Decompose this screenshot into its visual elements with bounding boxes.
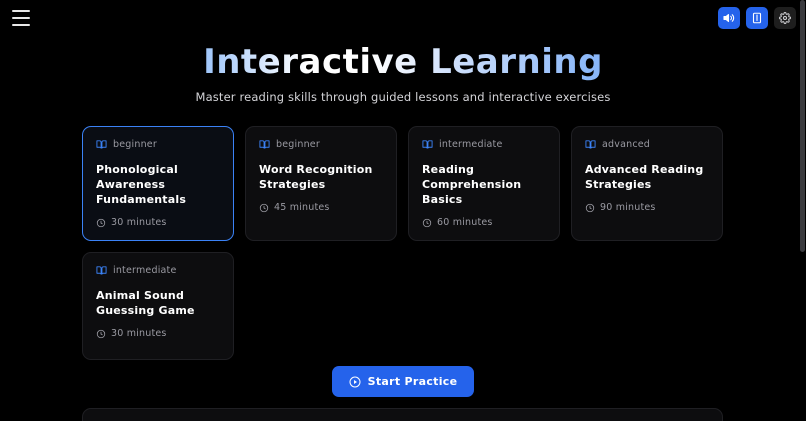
gear-icon (779, 12, 791, 24)
hero-section: Interactive Learning Master reading skil… (0, 40, 806, 104)
lesson-duration: 90 minutes (585, 202, 710, 213)
lesson-title: Phonological Awareness Fundamentals (96, 162, 221, 207)
clock-icon (422, 218, 432, 228)
settings-button[interactable] (774, 7, 796, 29)
lesson-duration-label: 30 minutes (111, 328, 167, 339)
lesson-title: Animal Sound Guessing Game (96, 288, 221, 318)
lesson-level-label: beginner (276, 139, 320, 150)
lesson-level: beginner (96, 139, 221, 150)
play-circle-icon (349, 376, 361, 388)
clock-icon (259, 203, 269, 213)
clock-icon (96, 218, 106, 228)
book-icon (422, 139, 433, 150)
lesson-duration: 30 minutes (96, 328, 221, 339)
page-title: Interactive Learning (0, 40, 806, 84)
lesson-card-grid: beginnerPhonological Awareness Fundament… (82, 126, 723, 360)
lesson-duration-label: 90 minutes (600, 202, 656, 213)
hamburger-bar (12, 17, 30, 19)
lesson-duration: 30 minutes (96, 217, 221, 228)
lesson-level: intermediate (422, 139, 547, 150)
lesson-level-label: beginner (113, 139, 157, 150)
lesson-card[interactable]: beginnerPhonological Awareness Fundament… (82, 126, 234, 241)
start-practice-button[interactable]: Start Practice (332, 366, 475, 397)
lesson-duration-label: 30 minutes (111, 217, 167, 228)
lesson-title: Advanced Reading Strategies (585, 162, 710, 192)
lesson-level: intermediate (96, 265, 221, 276)
lesson-title: Reading Comprehension Basics (422, 162, 547, 207)
lesson-level: beginner (259, 139, 384, 150)
book-tablet-icon (751, 12, 763, 24)
lesson-title: Word Recognition Strategies (259, 162, 384, 192)
lesson-card[interactable]: intermediateAnimal Sound Guessing Game30… (82, 252, 234, 360)
cta-section: Start Practice (0, 366, 806, 397)
top-bar (0, 0, 806, 38)
book-icon (259, 139, 270, 150)
top-bar-actions (718, 7, 796, 29)
page-subtitle: Master reading skills through guided les… (0, 90, 806, 104)
lesson-level: advanced (585, 139, 710, 150)
book-icon (585, 139, 596, 150)
lesson-duration-label: 60 minutes (437, 217, 493, 228)
lesson-level-label: intermediate (113, 265, 177, 276)
clock-icon (96, 329, 106, 339)
bottom-panel (82, 408, 723, 421)
hamburger-bar (12, 10, 30, 12)
speaker-icon (723, 12, 735, 24)
hamburger-bar (12, 24, 30, 26)
book-icon (96, 265, 107, 276)
lesson-card[interactable]: beginnerWord Recognition Strategies45 mi… (245, 126, 397, 241)
clock-icon (585, 203, 595, 213)
lesson-level-label: advanced (602, 139, 650, 150)
lesson-duration: 45 minutes (259, 202, 384, 213)
lesson-card[interactable]: intermediateReading Comprehension Basics… (408, 126, 560, 241)
lesson-card[interactable]: advancedAdvanced Reading Strategies90 mi… (571, 126, 723, 241)
sound-toggle-button[interactable] (718, 7, 740, 29)
page-scrollbar[interactable] (799, 0, 806, 421)
hamburger-menu-icon[interactable] (12, 10, 30, 26)
lesson-duration-label: 45 minutes (274, 202, 330, 213)
lesson-level-label: intermediate (439, 139, 503, 150)
interactive-learning-app: Interactive Learning Master reading skil… (0, 0, 806, 421)
lesson-duration: 60 minutes (422, 217, 547, 228)
start-practice-label: Start Practice (368, 375, 458, 388)
scrollbar-thumb[interactable] (800, 0, 805, 252)
reader-toggle-button[interactable] (746, 7, 768, 29)
book-icon (96, 139, 107, 150)
